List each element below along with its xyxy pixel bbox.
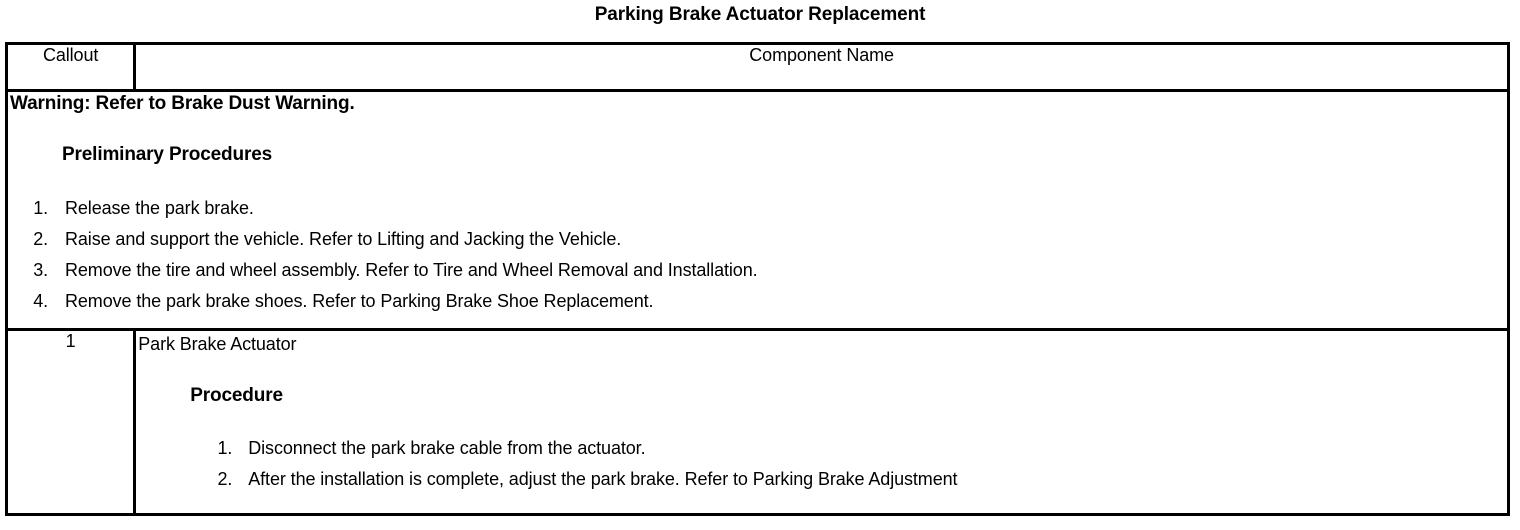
procedure-table: Callout Component Name Warning: Refer to… [5,42,1510,516]
preliminary-steps-list: 1. Release the park brake. 2. Raise and … [8,193,1507,317]
brake-dust-warning-text: Warning: Refer to Brake Dust Warning. [10,92,1507,116]
table-row-callout-1: 1 Park Brake Actuator Procedure 1. Disco… [7,330,1509,515]
step-number: 2. [26,224,48,255]
procedure-steps-list: 1. Disconnect the park brake cable from … [136,433,1507,495]
callout-number-1: 1 [7,330,135,515]
step-number: 3. [26,255,48,286]
list-item: 2. Raise and support the vehicle. Refer … [8,224,1507,255]
step-text: Remove the tire and wheel assembly. Refe… [65,260,758,280]
table-row-preliminary: Warning: Refer to Brake Dust Warning. Pr… [7,91,1509,330]
page-title: Parking Brake Actuator Replacement [0,3,1520,27]
list-item: 3. Remove the tire and wheel assembly. R… [8,255,1507,286]
column-header-component-name: Component Name [135,44,1509,91]
step-number: 1. [210,433,232,464]
procedure-heading: Procedure [190,384,1507,408]
list-item: 2. After the installation is complete, a… [136,464,1507,495]
list-item: 4. Remove the park brake shoes. Refer to… [8,286,1507,317]
preliminary-procedures-heading: Preliminary Procedures [62,143,1507,167]
list-item: 1. Release the park brake. [8,193,1507,224]
list-item: 1. Disconnect the park brake cable from … [136,433,1507,464]
table-header-row: Callout Component Name [7,44,1509,91]
step-text: Disconnect the park brake cable from the… [248,438,645,458]
column-header-callout: Callout [7,44,135,91]
step-text: After the installation is complete, adju… [248,469,957,489]
step-text: Release the park brake. [65,198,254,218]
component-cell-1: Park Brake Actuator Procedure 1. Disconn… [135,330,1509,515]
step-number: 1. [26,193,48,224]
step-number: 4. [26,286,48,317]
step-number: 2. [210,464,232,495]
step-text: Raise and support the vehicle. Refer to … [65,229,621,249]
page-root: Parking Brake Actuator Replacement Callo… [0,0,1520,530]
preliminary-procedures-cell: Warning: Refer to Brake Dust Warning. Pr… [7,91,1509,330]
step-text: Remove the park brake shoes. Refer to Pa… [65,291,653,311]
component-name-1: Park Brake Actuator [138,331,1507,357]
